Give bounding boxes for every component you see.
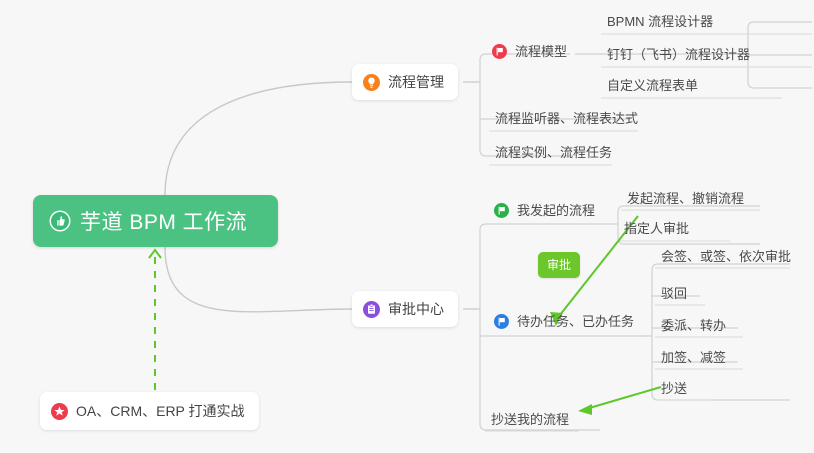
connector-root-to-process-management: [165, 82, 352, 195]
node-label-my-started-processes: 我发起的流程: [517, 202, 595, 219]
node-label-assignee-approval: 指定人审批: [624, 221, 689, 236]
node-custom-process-form[interactable]: 自定义流程表单: [601, 77, 704, 98]
integration-note-arrowhead: [149, 250, 161, 258]
star-icon: [51, 403, 68, 420]
approval-badge-label: 审批: [547, 258, 571, 272]
node-bpmn-designer[interactable]: BPMN 流程设计器: [601, 13, 719, 34]
node-label-start-cancel-process: 发起流程、撤销流程: [627, 191, 744, 206]
cc-flow-arrow-line: [586, 387, 661, 409]
approval-badge[interactable]: 审批: [538, 252, 580, 278]
cc-flow-arrowhead: [578, 404, 592, 415]
branch-label-process-management: 流程管理: [388, 72, 444, 92]
node-label-cc: 抄送: [661, 381, 687, 396]
node-dingtalk-feishu-designer[interactable]: 钉钉（飞书）流程设计器: [601, 46, 756, 67]
node-label-process-model: 流程模型: [515, 43, 567, 60]
node-label-delegate-transfer: 委派、转办: [661, 318, 726, 333]
node-process-instance-task[interactable]: 流程实例、流程任务: [489, 144, 618, 165]
node-cc[interactable]: 抄送: [655, 380, 693, 401]
node-start-cancel-process[interactable]: 发起流程、撤销流程: [621, 190, 750, 211]
node-assignee-approval[interactable]: 指定人审批: [618, 220, 695, 241]
node-delegate-transfer[interactable]: 委派、转办: [655, 317, 732, 338]
flag-icon: [494, 203, 509, 218]
thumbs-up-icon: [49, 210, 71, 232]
connector-model-trunk: [748, 22, 812, 88]
node-my-started-processes[interactable]: 我发起的流程: [494, 202, 601, 223]
connector-root-to-approval-center: [165, 247, 352, 312]
node-label-add-remove-sign: 加签、减签: [661, 350, 726, 365]
node-process-model[interactable]: 流程模型: [492, 43, 573, 64]
node-countersign-orsign-sequential[interactable]: 会签、或签、依次审批: [655, 248, 797, 269]
node-label-countersign-orsign-sequential: 会签、或签、依次审批: [661, 249, 791, 264]
node-label-process-instance-task: 流程实例、流程任务: [495, 145, 612, 160]
branch-label-approval-center: 审批中心: [388, 299, 444, 319]
lightbulb-icon: [363, 74, 380, 91]
clipboard-icon: [363, 301, 380, 318]
node-reject[interactable]: 驳回: [655, 285, 693, 306]
node-label-reject: 驳回: [661, 286, 687, 301]
flag-icon: [494, 314, 509, 329]
node-label-bpmn-designer: BPMN 流程设计器: [607, 14, 713, 29]
mindmap-canvas: 芋道 BPM 工作流 流程管理 审批中心: [0, 0, 814, 453]
integration-note-label: OA、CRM、ERP 打通实战: [76, 401, 245, 421]
node-todo-done-tasks[interactable]: 待办任务、已办任务: [494, 313, 640, 334]
node-label-todo-done-tasks: 待办任务、已办任务: [517, 313, 634, 330]
integration-note-node[interactable]: OA、CRM、ERP 打通实战: [40, 392, 259, 430]
flag-icon: [492, 44, 507, 59]
node-label-process-listener-expression: 流程监听器、流程表达式: [495, 111, 638, 126]
node-label-custom-process-form: 自定义流程表单: [607, 78, 698, 93]
node-label-cc-to-me-processes: 抄送我的流程: [491, 412, 569, 427]
branch-node-process-management[interactable]: 流程管理: [352, 64, 458, 100]
root-node[interactable]: 芋道 BPM 工作流: [33, 195, 278, 247]
node-add-remove-sign[interactable]: 加签、减签: [655, 349, 732, 370]
branch-node-approval-center[interactable]: 审批中心: [352, 291, 458, 327]
root-label: 芋道 BPM 工作流: [80, 206, 247, 236]
node-label-dingtalk-feishu-designer: 钉钉（飞书）流程设计器: [607, 47, 750, 62]
node-cc-to-me-processes[interactable]: 抄送我的流程: [485, 411, 575, 432]
connector-pm-trunk: [480, 54, 570, 156]
node-process-listener-expression[interactable]: 流程监听器、流程表达式: [489, 110, 644, 131]
